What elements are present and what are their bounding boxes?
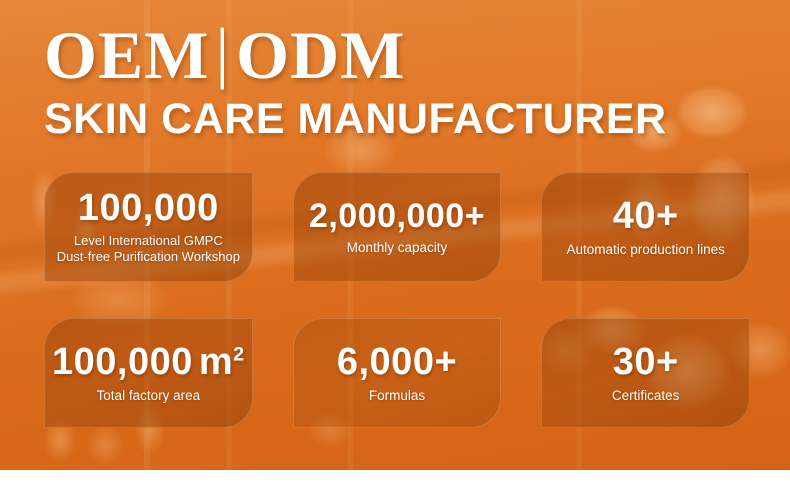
headline-block: OEM|ODM SKIN CARE MANUFACTURER: [44, 18, 744, 144]
stat-label-line2: Dust-free Purification Workshop: [57, 249, 240, 264]
stat-label-line1: Level International GMPC: [74, 233, 223, 248]
stat-label: Automatic production lines: [567, 241, 725, 258]
stat-label: Total factory area: [97, 387, 201, 404]
stat-value: 30+: [613, 341, 679, 383]
headline-oem: OEM: [44, 17, 209, 93]
headline-odm: ODM: [236, 17, 405, 93]
stats-row-1: 100,000 Level International GMPC Dust-fr…: [44, 172, 750, 282]
stat-value: 100,000: [78, 187, 219, 229]
stat-label: Certificates: [612, 387, 680, 404]
headline-title: OEM|ODM: [44, 18, 744, 92]
stat-label: Formulas: [369, 387, 425, 404]
stat-value: 6,000+: [337, 341, 457, 383]
stat-card-certificates: 30+ Certificates: [541, 318, 750, 428]
stat-value-unit-exponent: 2: [233, 343, 244, 365]
headline-divider: |: [209, 15, 236, 89]
headline-subtitle: SKIN CARE MANUFACTURER: [44, 94, 744, 144]
stat-value: 2,000,000+: [309, 197, 485, 235]
stat-value: 40+: [613, 195, 679, 237]
stats-row-2: 100,000m2 Total factory area 6,000+ Form…: [44, 318, 750, 428]
stat-label: Level International GMPC Dust-free Purif…: [57, 233, 240, 265]
stat-card-production-lines: 40+ Automatic production lines: [541, 172, 750, 282]
stat-card-monthly-capacity: 2,000,000+ Monthly capacity: [293, 172, 502, 282]
stat-value-number: 100,000: [52, 341, 193, 383]
stat-card-formulas: 6,000+ Formulas: [293, 318, 502, 428]
stat-card-cleanroom: 100,000 Level International GMPC Dust-fr…: [44, 172, 253, 282]
bottom-white-strip: [0, 470, 790, 495]
stat-value: 100,000m2: [52, 341, 245, 383]
stat-value-unit: m: [199, 341, 233, 383]
promo-banner: OEM|ODM SKIN CARE MANUFACTURER 100,000 L…: [0, 0, 790, 495]
stats-grid: 100,000 Level International GMPC Dust-fr…: [44, 172, 750, 428]
stat-label: Monthly capacity: [347, 239, 448, 256]
stat-card-factory-area: 100,000m2 Total factory area: [44, 318, 253, 428]
